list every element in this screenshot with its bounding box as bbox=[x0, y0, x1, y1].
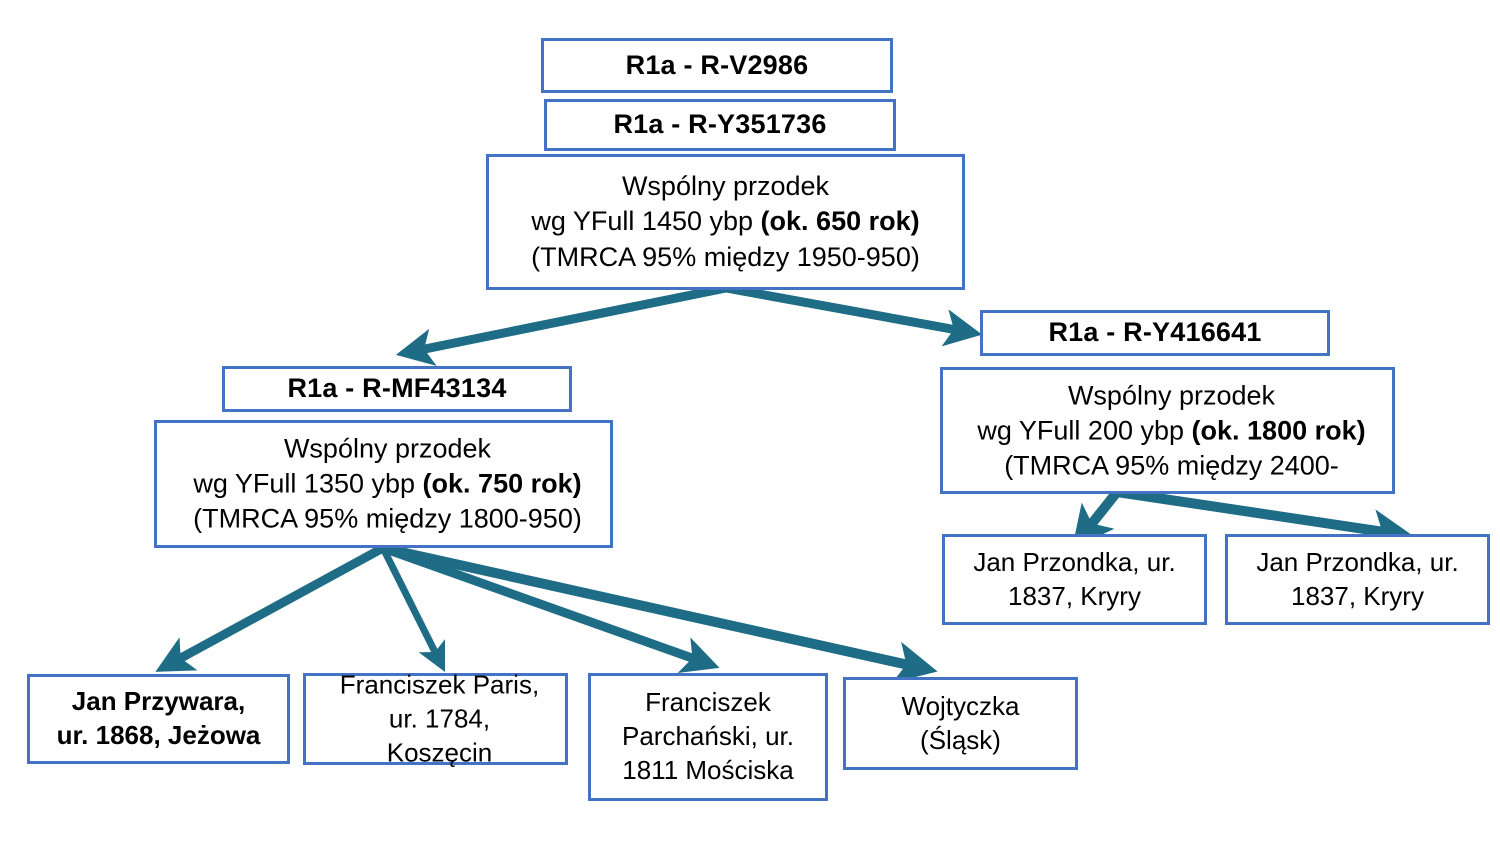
ancestor650-line2-bold: (ok. 650 rok) bbox=[761, 206, 920, 236]
diagram-canvas: R1a - R-V2986 R1a - R-Y351736 Wspólny pr… bbox=[0, 0, 1500, 842]
node-common-ancestor-1800-text: Wspólny przodek wg YFull 200 ybp (ok. 18… bbox=[947, 378, 1396, 483]
node-leaf-jan-przywara[interactable]: Jan Przywara, ur. 1868, Jeżowa bbox=[27, 674, 290, 764]
edge-ancestor750-to-parchanski bbox=[383, 548, 706, 663]
edge-ancestor750-to-przywara bbox=[168, 548, 383, 665]
node-common-ancestor-650-text: Wspólny przodek wg YFull 1450 ybp (ok. 6… bbox=[489, 169, 962, 274]
node-haplogroup-r-y416641-label: R1a - R-Y416641 bbox=[983, 315, 1327, 350]
ancestor750-line2-plain: wg YFull 1350 ybp bbox=[193, 468, 422, 498]
przywara-line1: Jan Przywara, bbox=[30, 685, 287, 719]
node-leaf-przondka-1[interactable]: Jan Przondka, ur. 1837, Kryry bbox=[942, 534, 1207, 625]
node-haplogroup-r-v2986-label: R1a - R-V2986 bbox=[544, 48, 890, 83]
przondka-2-line2: 1837, Kryry bbox=[1228, 580, 1487, 614]
node-leaf-franciszek-parchanski[interactable]: Franciszek Parchański, ur. 1811 Mościska bbox=[588, 673, 828, 801]
wojtyczka-line2: (Śląsk) bbox=[846, 724, 1075, 758]
przywara-line2: ur. 1868, Jeżowa bbox=[30, 719, 287, 753]
node-leaf-jan-przywara-text: Jan Przywara, ur. 1868, Jeżowa bbox=[30, 685, 287, 753]
node-leaf-wojtyczka-text: Wojtyczka (Śląsk) bbox=[846, 690, 1075, 758]
edge-ancestor1800-to-przondka-2 bbox=[1117, 492, 1398, 534]
node-haplogroup-r-mf43134-label: R1a - R-MF43134 bbox=[225, 371, 569, 406]
edge-ancestor1800-to-przondka-1 bbox=[1082, 492, 1117, 536]
node-leaf-przondka-1-text: Jan Przondka, ur. 1837, Kryry bbox=[945, 546, 1204, 614]
paris-line3: Koszęcin bbox=[310, 736, 569, 770]
node-leaf-franciszek-paris-text: Franciszek Paris, ur. 1784, Koszęcin bbox=[310, 668, 569, 769]
node-common-ancestor-750[interactable]: Wspólny przodek wg YFull 1350 ybp (ok. 7… bbox=[154, 420, 613, 548]
ancestor650-line2: wg YFull 1450 ybp (ok. 650 rok) bbox=[489, 204, 962, 239]
ancestor1800-line1: Wspólny przodek bbox=[947, 378, 1396, 413]
wojtyczka-line1: Wojtyczka bbox=[846, 690, 1075, 724]
ancestor650-line1: Wspólny przodek bbox=[489, 169, 962, 204]
node-leaf-przondka-2-text: Jan Przondka, ur. 1837, Kryry bbox=[1228, 546, 1487, 614]
ancestor750-line2-bold: (ok. 750 rok) bbox=[423, 468, 582, 498]
edge-ancestor650-to-mf43134 bbox=[410, 288, 726, 352]
ancestor1800-line3: (TMRCA 95% między 2400- bbox=[947, 448, 1396, 483]
node-haplogroup-r-y351736-label: R1a - R-Y351736 bbox=[547, 107, 893, 142]
przondka-2-line1: Jan Przondka, ur. bbox=[1228, 546, 1487, 580]
ancestor750-line2: wg YFull 1350 ybp (ok. 750 rok) bbox=[161, 466, 614, 501]
node-haplogroup-r-mf43134[interactable]: R1a - R-MF43134 bbox=[222, 366, 572, 412]
node-leaf-przondka-2[interactable]: Jan Przondka, ur. 1837, Kryry bbox=[1225, 534, 1490, 625]
edge-ancestor750-to-wojtyczka bbox=[383, 548, 922, 668]
node-common-ancestor-750-text: Wspólny przodek wg YFull 1350 ybp (ok. 7… bbox=[161, 431, 614, 536]
node-haplogroup-r-v2986[interactable]: R1a - R-V2986 bbox=[541, 38, 893, 93]
przondka-1-line1: Jan Przondka, ur. bbox=[945, 546, 1204, 580]
node-haplogroup-r-y351736[interactable]: R1a - R-Y351736 bbox=[544, 99, 896, 151]
przondka-1-line2: 1837, Kryry bbox=[945, 580, 1204, 614]
node-common-ancestor-650[interactable]: Wspólny przodek wg YFull 1450 ybp (ok. 6… bbox=[486, 154, 965, 290]
parchanski-line2: Parchański, ur. bbox=[591, 720, 825, 754]
edge-ancestor650-to-y416641 bbox=[726, 288, 968, 332]
paris-line2: ur. 1784, bbox=[310, 702, 569, 736]
parchanski-line1: Franciszek bbox=[591, 686, 825, 720]
ancestor1800-line2-plain: wg YFull 200 ybp bbox=[977, 415, 1191, 445]
ancestor750-line3: (TMRCA 95% między 1800-950) bbox=[161, 502, 614, 537]
node-common-ancestor-1800[interactable]: Wspólny przodek wg YFull 200 ybp (ok. 18… bbox=[940, 367, 1395, 494]
node-haplogroup-r-y416641[interactable]: R1a - R-Y416641 bbox=[980, 310, 1330, 356]
paris-line1: Franciszek Paris, bbox=[310, 668, 569, 702]
node-leaf-franciszek-parchanski-text: Franciszek Parchański, ur. 1811 Mościska bbox=[591, 686, 825, 787]
edge-ancestor750-to-paris bbox=[383, 548, 440, 662]
ancestor650-line2-plain: wg YFull 1450 ybp bbox=[531, 206, 760, 236]
node-leaf-wojtyczka[interactable]: Wojtyczka (Śląsk) bbox=[843, 677, 1078, 770]
ancestor650-line3: (TMRCA 95% między 1950-950) bbox=[489, 240, 962, 275]
node-leaf-franciszek-paris[interactable]: Franciszek Paris, ur. 1784, Koszęcin bbox=[303, 673, 568, 765]
ancestor1800-line2: wg YFull 200 ybp (ok. 1800 rok) bbox=[947, 413, 1396, 448]
ancestor750-line1: Wspólny przodek bbox=[161, 431, 614, 466]
parchanski-line3: 1811 Mościska bbox=[591, 754, 825, 788]
ancestor1800-line2-bold: (ok. 1800 rok) bbox=[1192, 415, 1366, 445]
